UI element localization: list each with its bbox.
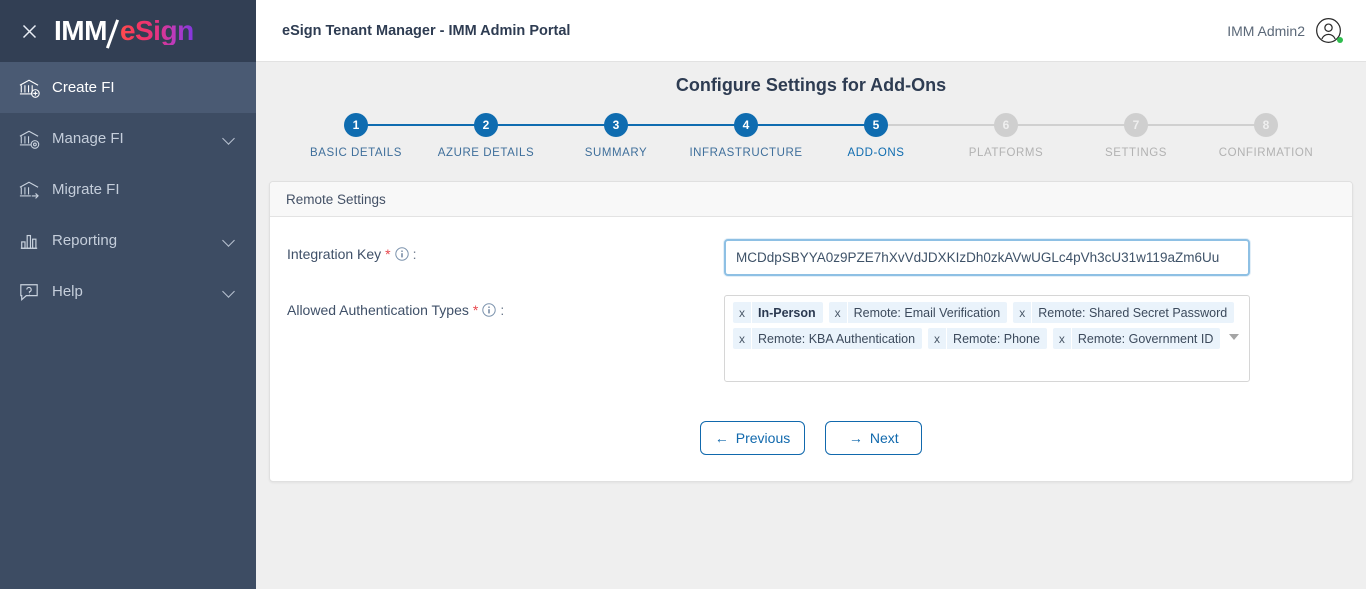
step-settings[interactable]: 7 SETTINGS xyxy=(1071,113,1201,159)
auth-types-row: Allowed Authentication Types * : xyxy=(270,295,1352,382)
step-platforms[interactable]: 6 PLATFORMS xyxy=(941,113,1071,159)
remove-tag-icon[interactable]: x xyxy=(733,328,752,349)
bar-chart-icon xyxy=(18,228,52,254)
step-number: 1 xyxy=(344,113,368,137)
logo-imm: IMM xyxy=(54,17,107,45)
integration-key-row: Integration Key * : xyxy=(270,239,1352,276)
remove-tag-icon[interactable]: x xyxy=(1053,328,1072,349)
bank-arrow-icon xyxy=(18,177,52,203)
tag-label: Remote: Shared Secret Password xyxy=(1032,302,1234,323)
integration-key-input[interactable] xyxy=(724,239,1250,276)
close-x-icon[interactable] xyxy=(16,18,42,44)
step-number: 7 xyxy=(1124,113,1148,137)
user-circle-icon[interactable] xyxy=(1315,17,1342,44)
sidebar-item-migrate-fi[interactable]: Migrate FI xyxy=(0,164,256,215)
auth-types-field-wrap: x In-Person x Remote: Email Verification… xyxy=(724,295,1251,382)
card-header-title: Remote Settings xyxy=(270,182,1352,217)
page-title: Configure Settings for Add-Ons xyxy=(256,62,1366,96)
info-circle-icon[interactable] xyxy=(395,247,409,261)
main-content: eSign Tenant Manager - IMM Admin Portal … xyxy=(256,0,1366,589)
sidebar: IMMeSign Create FI xyxy=(0,0,256,589)
step-confirmation[interactable]: 8 CONFIRMATION xyxy=(1201,113,1331,159)
step-number: 2 xyxy=(474,113,498,137)
step-label: PLATFORMS xyxy=(969,147,1043,159)
step-basic-details[interactable]: 1 BASIC DETAILS xyxy=(291,113,421,159)
wizard-stepper: 1 BASIC DETAILS 2 AZURE DETAILS 3 SUMMAR… xyxy=(291,113,1331,159)
caret-down-icon[interactable] xyxy=(1229,334,1239,340)
step-label: CONFIRMATION xyxy=(1219,147,1314,159)
integration-key-label: Integration Key * : xyxy=(287,239,724,262)
app-root: IMMeSign Create FI xyxy=(0,0,1366,589)
tag-in-person[interactable]: x In-Person xyxy=(733,302,823,323)
tag-remote-email-verification[interactable]: x Remote: Email Verification xyxy=(829,302,1008,323)
step-label: ADD-ONS xyxy=(848,147,905,159)
chevron-down-icon[interactable] xyxy=(224,286,236,298)
step-number: 5 xyxy=(864,113,888,137)
tag-remote-kba-authentication[interactable]: x Remote: KBA Authentication xyxy=(733,328,922,349)
step-number: 4 xyxy=(734,113,758,137)
step-infrastructure[interactable]: 4 INFRASTRUCTURE xyxy=(681,113,811,159)
card-body: Integration Key * : xyxy=(270,217,1352,481)
tag-label: Remote: KBA Authentication xyxy=(752,328,922,349)
remove-tag-icon[interactable]: x xyxy=(928,328,947,349)
remove-tag-icon[interactable]: x xyxy=(1013,302,1032,323)
auth-types-label-text: Allowed Authentication Types xyxy=(287,302,469,318)
step-number: 6 xyxy=(994,113,1018,137)
step-label: INFRASTRUCTURE xyxy=(689,147,802,159)
tag-remote-phone[interactable]: x Remote: Phone xyxy=(928,328,1047,349)
sidebar-item-label: Help xyxy=(52,283,224,300)
tag-remote-shared-secret-password[interactable]: x Remote: Shared Secret Password xyxy=(1013,302,1234,323)
step-label: AZURE DETAILS xyxy=(438,147,534,159)
sidebar-item-manage-fi[interactable]: Manage FI xyxy=(0,113,256,164)
chevron-down-icon[interactable] xyxy=(224,235,236,247)
required-asterisk: * xyxy=(473,302,478,318)
tag-label: In-Person xyxy=(752,302,823,323)
step-label: BASIC DETAILS xyxy=(310,147,402,159)
logo-esign: eSign xyxy=(120,17,194,45)
sidebar-item-create-fi[interactable]: Create FI xyxy=(0,62,256,113)
sidebar-item-label: Manage FI xyxy=(52,130,224,147)
step-number: 8 xyxy=(1254,113,1278,137)
tag-remote-government-id[interactable]: x Remote: Government ID xyxy=(1053,328,1220,349)
bank-add-icon xyxy=(18,75,52,101)
step-add-ons[interactable]: 5 ADD-ONS xyxy=(811,113,941,159)
step-azure-details[interactable]: 2 AZURE DETAILS xyxy=(421,113,551,159)
sidebar-item-label: Create FI xyxy=(52,79,256,96)
status-dot xyxy=(1337,37,1343,43)
label-colon: : xyxy=(413,246,417,262)
arrow-left-icon: ← xyxy=(715,431,729,445)
sidebar-item-label: Migrate FI xyxy=(52,181,256,198)
auth-types-label: Allowed Authentication Types * : xyxy=(287,295,724,318)
integration-key-label-text: Integration Key xyxy=(287,246,381,262)
question-chat-icon xyxy=(18,279,52,305)
step-number: 3 xyxy=(604,113,628,137)
next-button[interactable]: → Next xyxy=(825,421,922,455)
chevron-down-icon[interactable] xyxy=(224,133,236,145)
top-bar: eSign Tenant Manager - IMM Admin Portal … xyxy=(256,0,1366,62)
arrow-right-icon: → xyxy=(849,431,863,445)
tag-label: Remote: Email Verification xyxy=(848,302,1008,323)
app-logo: IMMeSign xyxy=(54,17,194,45)
tag-label: Remote: Government ID xyxy=(1072,328,1220,349)
bank-gear-icon xyxy=(18,126,52,152)
page-header-title: eSign Tenant Manager - IMM Admin Portal xyxy=(282,23,570,39)
step-summary[interactable]: 3 SUMMARY xyxy=(551,113,681,159)
sidebar-logo-row: IMMeSign xyxy=(0,0,256,62)
user-name-label: IMM Admin2 xyxy=(1227,23,1305,39)
remote-settings-card: Remote Settings Integration Key * xyxy=(269,181,1353,482)
step-label: SUMMARY xyxy=(585,147,647,159)
wizard-button-row: ← Previous → Next xyxy=(270,421,1352,455)
sidebar-item-help[interactable]: Help xyxy=(0,266,256,317)
remove-tag-icon[interactable]: x xyxy=(733,302,752,323)
integration-key-field-wrap xyxy=(724,239,1251,276)
auth-types-multiselect[interactable]: x In-Person x Remote: Email Verification… xyxy=(724,295,1250,382)
topbar-user-area[interactable]: IMM Admin2 xyxy=(1227,17,1342,44)
previous-button[interactable]: ← Previous xyxy=(700,421,805,455)
previous-button-label: Previous xyxy=(736,430,790,446)
label-colon: : xyxy=(500,302,504,318)
step-label: SETTINGS xyxy=(1105,147,1167,159)
required-asterisk: * xyxy=(385,246,390,262)
sidebar-item-reporting[interactable]: Reporting xyxy=(0,215,256,266)
info-circle-icon[interactable] xyxy=(482,303,496,317)
sidebar-item-label: Reporting xyxy=(52,232,224,249)
next-button-label: Next xyxy=(870,430,899,446)
tag-label: Remote: Phone xyxy=(947,328,1047,349)
remove-tag-icon[interactable]: x xyxy=(829,302,848,323)
